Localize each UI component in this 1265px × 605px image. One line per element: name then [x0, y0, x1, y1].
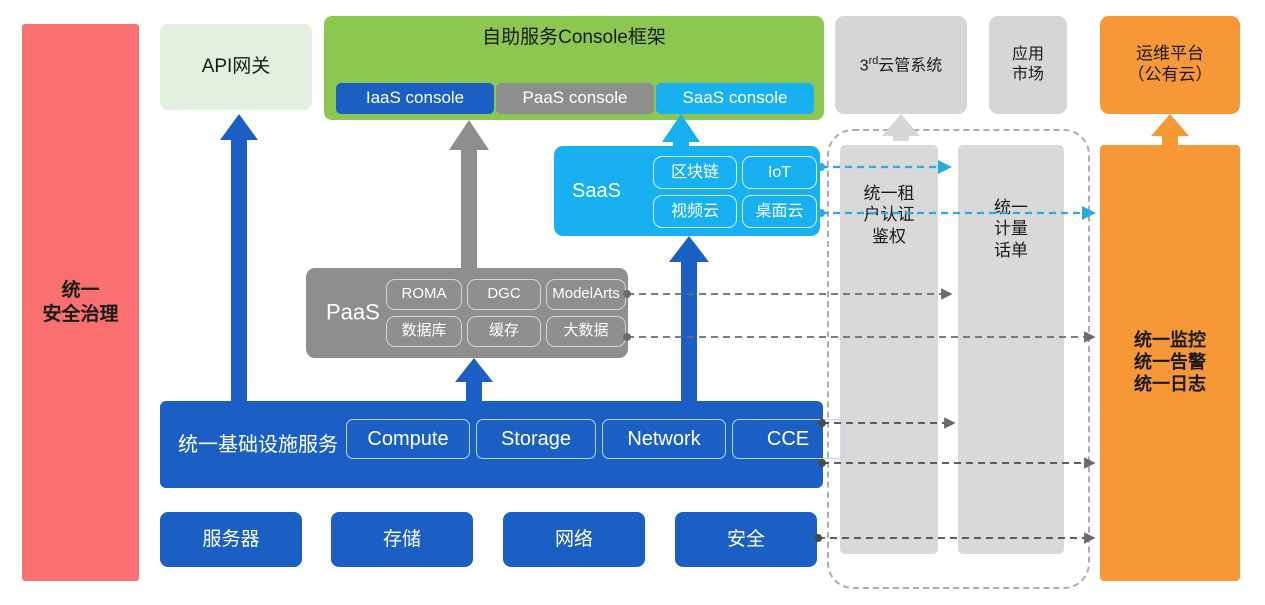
infra-chip-network[interactable]: Network	[602, 419, 726, 459]
arrow-paas-to-console	[449, 120, 489, 268]
ops-column-line1: 统一监控	[1134, 330, 1206, 352]
security-governance-line1: 统一	[61, 279, 99, 302]
resource-box-network-label: 网络	[555, 528, 593, 551]
paas-chip-modelarts[interactable]: ModelArts	[546, 279, 626, 310]
saas-console-label: SaaS console	[683, 88, 788, 109]
app-market-line1: 应用	[1012, 45, 1044, 65]
saas-chip-iot-label: IoT	[768, 163, 791, 183]
third-party-cloud-mgmt-block: 3rd云管系统	[835, 16, 967, 114]
api-gateway-label: API网关	[202, 55, 271, 78]
ops-column-block: 统一监控 统一告警 统一日志	[1100, 145, 1240, 581]
iaas-console-label: IaaS console	[366, 88, 464, 109]
tenant-auth-line3: 鉴权	[864, 226, 915, 247]
paas-label: PaaS	[326, 300, 380, 327]
resource-box-server[interactable]: 服务器	[160, 512, 302, 567]
arrow-infra-to-paas	[455, 358, 493, 401]
saas-block: SaaS 区块链 IoT 视频云 桌面云	[554, 146, 820, 236]
paas-chip-dgc-label: DGC	[487, 285, 520, 303]
paas-chip-roma[interactable]: ROMA	[386, 279, 462, 310]
infra-chip-cce-label: CCE	[767, 427, 809, 451]
paas-chip-cache[interactable]: 缓存	[467, 316, 541, 347]
saas-chip-video-cloud-label: 视频云	[671, 202, 719, 222]
resource-box-storage[interactable]: 存储	[331, 512, 473, 567]
unified-metering-lines: 统一 计量 话单	[994, 145, 1028, 261]
paas-chip-cache-label: 缓存	[489, 322, 519, 340]
saas-chip-iot[interactable]: IoT	[742, 156, 817, 189]
ops-column-line2: 统一告警	[1134, 352, 1206, 374]
saas-chip-blockchain[interactable]: 区块链	[653, 156, 737, 189]
api-gateway-block: API网关	[160, 24, 312, 110]
unified-infrastructure-label: 统一基础设施服务	[178, 432, 338, 456]
unified-tenant-auth-column: 统一租 户认证 鉴权	[840, 145, 938, 554]
third-party-cloud-mgmt-label: 3rd云管系统	[860, 55, 943, 76]
resource-box-network[interactable]: 网络	[503, 512, 645, 567]
infra-chip-storage[interactable]: Storage	[476, 419, 596, 459]
metering-line2: 计量	[994, 218, 1028, 239]
saas-chip-video-cloud[interactable]: 视频云	[653, 195, 737, 228]
tenant-auth-line1: 统一租	[864, 183, 915, 204]
resource-box-server-label: 服务器	[202, 528, 259, 551]
ops-column-line3: 统一日志	[1134, 374, 1206, 396]
arrow-infra-to-saas	[669, 236, 709, 401]
app-market-line2: 市场	[1012, 65, 1044, 85]
ops-platform-block: 运维平台 （公有云）	[1100, 16, 1240, 114]
architecture-diagram: 统一 安全治理 API网关 自助服务Console框架 IaaS console…	[0, 0, 1265, 605]
arrow-infra-to-api-gateway	[220, 114, 258, 401]
saas-console-chip[interactable]: SaaS console	[656, 83, 814, 114]
paas-console-label: PaaS console	[523, 88, 628, 109]
unified-infrastructure-block: 统一基础设施服务 Compute Storage Network CCE	[160, 401, 823, 488]
paas-console-chip[interactable]: PaaS console	[496, 83, 654, 114]
saas-chip-blockchain-label: 区块链	[671, 163, 719, 183]
saas-label: SaaS	[572, 179, 621, 203]
third-party-superscript: rd	[869, 55, 879, 67]
security-governance-line2: 安全治理	[42, 303, 118, 326]
paas-chip-roma-label: ROMA	[402, 285, 447, 303]
ops-platform-line2: （公有云）	[1128, 65, 1213, 86]
resource-box-security[interactable]: 安全	[675, 512, 817, 567]
unified-metering-column: 统一 计量 话单	[958, 145, 1064, 554]
third-party-suffix: 云管系统	[878, 57, 942, 74]
app-market-block: 应用 市场	[989, 16, 1067, 114]
infra-chip-compute[interactable]: Compute	[346, 419, 470, 459]
arrow-ops-column-to-ops-platform	[1151, 114, 1189, 146]
paas-chip-bigdata[interactable]: 大数据	[546, 316, 626, 347]
third-party-prefix: 3	[860, 57, 869, 74]
paas-chip-bigdata-label: 大数据	[563, 322, 608, 340]
security-governance-block: 统一 安全治理	[22, 24, 139, 581]
resource-box-storage-label: 存储	[383, 528, 421, 551]
paas-chip-modelarts-label: ModelArts	[552, 285, 620, 303]
saas-chip-desktop-cloud-label: 桌面云	[755, 202, 803, 222]
saas-chip-desktop-cloud[interactable]: 桌面云	[742, 195, 817, 228]
resource-box-security-label: 安全	[727, 528, 765, 551]
iaas-console-chip[interactable]: IaaS console	[336, 83, 494, 114]
metering-line1: 统一	[994, 197, 1028, 218]
infra-chip-network-label: Network	[627, 427, 700, 451]
infra-chip-cce[interactable]: CCE	[732, 419, 844, 459]
tenant-auth-line2: 户认证	[864, 204, 915, 225]
console-framework-block: 自助服务Console框架 IaaS console PaaS console …	[324, 16, 824, 120]
paas-chip-dgc[interactable]: DGC	[467, 279, 541, 310]
ops-platform-line1: 运维平台	[1136, 44, 1204, 65]
metering-line3: 话单	[994, 240, 1028, 261]
unified-tenant-auth-lines: 统一租 户认证 鉴权	[864, 145, 915, 247]
paas-block: PaaS ROMA DGC ModelArts 数据库 缓存 大数据	[306, 268, 628, 358]
paas-chip-database[interactable]: 数据库	[386, 316, 462, 347]
console-framework-title: 自助服务Console框架	[324, 26, 824, 49]
infra-chip-compute-label: Compute	[367, 427, 448, 451]
infra-chip-storage-label: Storage	[501, 427, 571, 451]
paas-chip-database-label: 数据库	[401, 322, 446, 340]
